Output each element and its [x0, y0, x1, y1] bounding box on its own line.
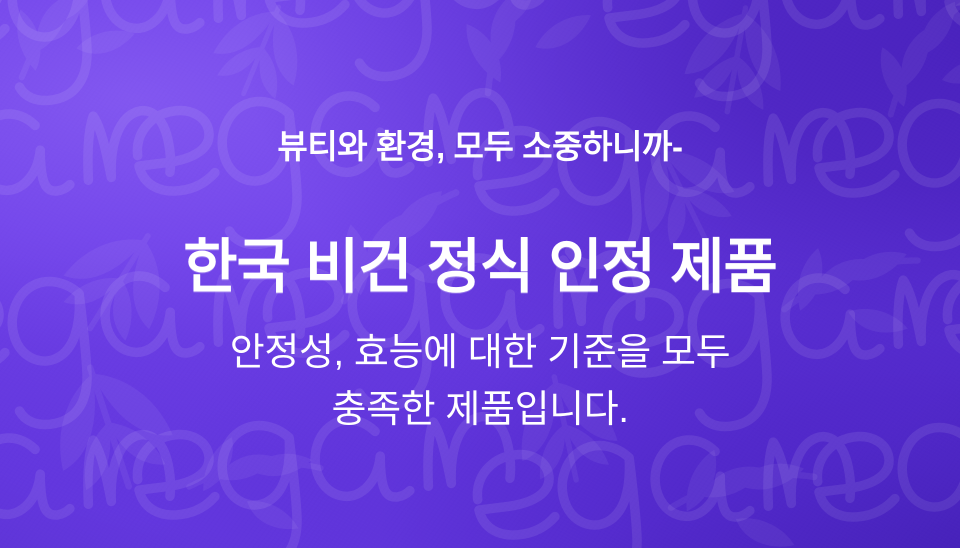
banner-body-line-1: 안정성, 효능에 대한 기준을 모두 [0, 325, 960, 382]
banner-body-line-2: 충족한 제품입니다. [0, 382, 960, 439]
banner-eyebrow-text: 뷰티와 환경, 모두 소중하니까- [0, 127, 960, 167]
vegan-certification-banner: 뷰티와 환경, 모두 소중하니까- 한국 비건 정식 인정 제품 안정성, 효능… [0, 0, 960, 548]
banner-body-copy: 안정성, 효능에 대한 기준을 모두 충족한 제품입니다. [0, 325, 960, 439]
banner-content: 뷰티와 환경, 모두 소중하니까- 한국 비건 정식 인정 제품 안정성, 효능… [0, 0, 960, 548]
banner-headline: 한국 비건 정식 인정 제품 [0, 233, 960, 303]
